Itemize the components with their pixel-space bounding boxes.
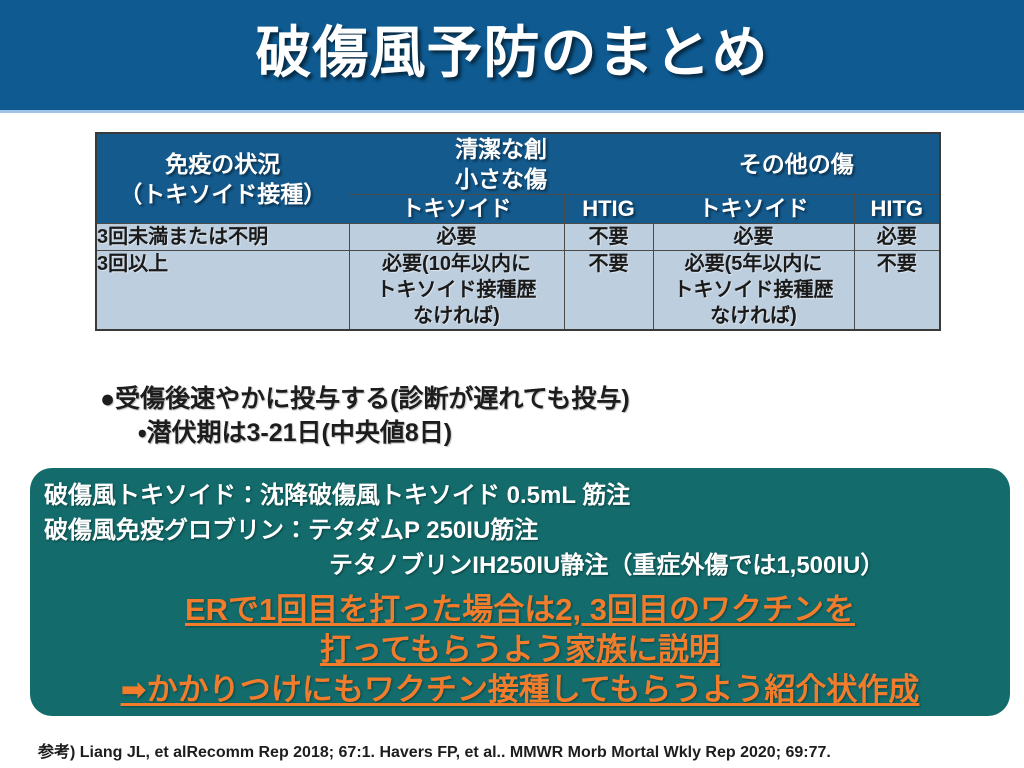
footer-reference: 参考) Liang JL, et alRecomm Rep 2018; 67:1… [38, 738, 831, 762]
header-immune-status: 免疫の状況 （トキソイド接種） [96, 133, 349, 224]
header-clean-htig: HTIG [564, 195, 653, 224]
header-clean-toxoid: トキソイド [349, 195, 564, 224]
note-line-incubation: ・潜伏期は3-21日(中央値8日) [100, 416, 980, 450]
header-other-wound: その他の傷 [653, 133, 940, 195]
title-banner: 破傷風予防のまとめ [0, 0, 1024, 113]
header-other-toxoid: トキソイド [653, 195, 854, 224]
row-other-toxoid-0: 必要 [653, 224, 854, 251]
row-other-hitg-0: 必要 [854, 224, 940, 251]
table-row: 3回未満または不明 必要 不要 必要 必要 [96, 224, 940, 251]
header-clean-wound-line2: 小さな傷 [350, 164, 653, 194]
action-line-referral-letter: ➡かかりつけにもワクチン接種してもらうよう紹介状作成 [44, 670, 996, 710]
header-clean-wound: 清潔な創 小さな傷 [349, 133, 653, 195]
row-clean-htig-0: 不要 [564, 224, 653, 251]
drug-line-toxoid: 破傷風トキソイド：沈降破傷風トキソイド 0.5mL 筋注 [44, 478, 996, 513]
row-clean-toxoid-0: 必要 [349, 224, 564, 251]
header-immune-status-line1: 免疫の状況 [97, 149, 349, 179]
tetanus-prophylaxis-table: 免疫の状況 （トキソイド接種） 清潔な創 小さな傷 その他の傷 トキソイド HT… [95, 132, 941, 331]
action-line-explain-family: 打ってもらうよう家族に説明 [44, 630, 996, 670]
page-title: 破傷風予防のまとめ [0, 10, 1024, 96]
row-other-hitg-1: 不要 [854, 251, 940, 331]
notes-block: ●受傷後速やかに投与する(診断が遅れても投与) ・潜伏期は3-21日(中央値8日… [100, 382, 980, 450]
row-status-1: 3回以上 [96, 251, 349, 331]
header-immune-status-line2: （トキソイド接種） [97, 179, 349, 209]
dosing-panel: 破傷風トキソイド：沈降破傷風トキソイド 0.5mL 筋注 破傷風免疫グロブリン：… [30, 468, 1010, 716]
drug-line-immunoglobulin: 破傷風免疫グロブリン：テタダムP 250IU筋注 [44, 513, 996, 548]
action-block: ERで1回目を打った場合は2, 3回目のワクチンを 打ってもらうよう家族に説明 … [44, 590, 996, 710]
header-clean-wound-line1: 清潔な創 [350, 134, 653, 164]
header-other-hitg: HITG [854, 195, 940, 224]
action-line-er-followup: ERで1回目を打った場合は2, 3回目のワクチンを [44, 590, 996, 630]
table-header-row-1: 免疫の状況 （トキソイド接種） 清潔な創 小さな傷 その他の傷 [96, 133, 940, 195]
row-clean-htig-1: 不要 [564, 251, 653, 331]
table-row: 3回以上 必要(10年以内に トキソイド接種歴 なければ) 不要 必要(5年以内… [96, 251, 940, 331]
note-line-administer: ●受傷後速やかに投与する(診断が遅れても投与) [100, 382, 980, 416]
row-clean-toxoid-1: 必要(10年以内に トキソイド接種歴 なければ) [349, 251, 564, 331]
row-status-0: 3回未満または不明 [96, 224, 349, 251]
row-other-toxoid-1: 必要(5年以内に トキソイド接種歴 なければ) [653, 251, 854, 331]
banner-underline [0, 110, 1024, 113]
drug-line-tetanobulin: テタノブリンIH250IU静注（重症外傷では1,500IU） [44, 548, 996, 583]
